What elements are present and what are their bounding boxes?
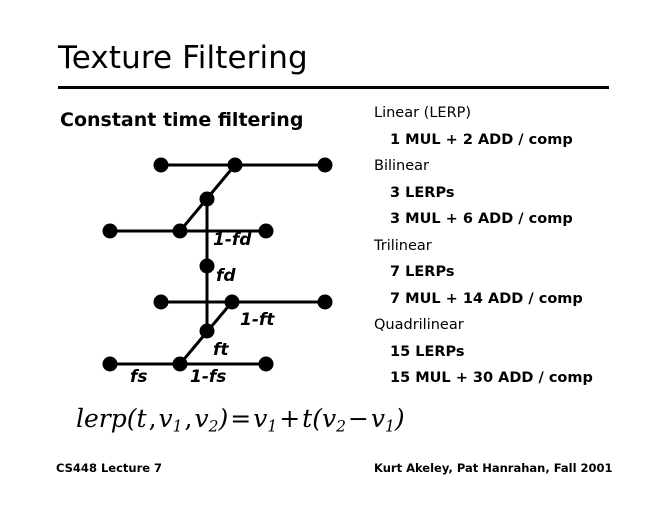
diagram-weight-label-fd: fd (216, 266, 236, 286)
formula-open-paren: ( (127, 404, 137, 433)
formula-close-paren-2: ) (395, 404, 405, 433)
diagram-weight-label-ft: ft (213, 340, 229, 360)
section-heading: Constant time filtering (60, 109, 303, 131)
filter-cost-label: 3 MUL + 6 ADD / comp (390, 212, 644, 227)
diagram-diagonal-line-0 (180, 165, 235, 231)
slide-canvas: Texture Filtering Constant time filterin… (0, 0, 660, 510)
filter-method-label: Trilinear (374, 239, 644, 254)
diagram-node-vertical-1 (200, 259, 215, 274)
filter-method-label: Bilinear (374, 159, 644, 174)
diagram-weight-label-fs: fs (130, 367, 148, 387)
diagram-node-row1-1 (173, 224, 188, 239)
diagram-weight-label-1fs: 1-fs (190, 367, 226, 387)
filter-cost-label: 1 MUL + 2 ADD / comp (390, 133, 644, 148)
filter-method-label: Linear (LERP) (374, 106, 644, 121)
formula-plus: + (277, 404, 302, 433)
diagram-node-row3-1 (173, 357, 188, 372)
diagram-node-row3-2 (259, 357, 274, 372)
formula-function-name: lerp (76, 404, 127, 433)
diagram-node-vertical-2 (200, 324, 215, 339)
diagram-weight-label-1ft: 1-ft (240, 310, 274, 330)
footer-course-label: CS448 Lecture 7 (56, 461, 162, 475)
diagram-node-row0-2 (318, 158, 333, 173)
page-title: Texture Filtering (58, 40, 308, 76)
formula-arg-t: t (137, 404, 147, 433)
diagram-node-row1-0 (103, 224, 118, 239)
diagram-node-row2-1 (225, 295, 240, 310)
diagram-node-row1-2 (259, 224, 274, 239)
filter-cost-label: 7 LERPs (390, 265, 644, 280)
formula-arg-v2: v2 (194, 404, 218, 433)
filter-cost-label: 15 LERPs (390, 345, 644, 360)
formula-equals: = (228, 404, 253, 433)
filter-cost-label: 3 LERPs (390, 186, 644, 201)
filtering-cost-list: Linear (LERP)1 MUL + 2 ADD / compBilinea… (374, 106, 644, 398)
title-divider (58, 86, 609, 89)
diagram-node-row3-0 (103, 357, 118, 372)
formula-arg-v1: v1 (159, 404, 183, 433)
footer-authors-label: Kurt Akeley, Pat Hanrahan, Fall 2001 (374, 461, 613, 475)
filter-cost-label: 15 MUL + 30 ADD / comp (390, 371, 644, 386)
diagram-node-row2-2 (318, 295, 333, 310)
formula-close-paren: ) (218, 404, 228, 433)
lerp-formula: lerp(t,v1,v2)=v1+t(v2−v1) (76, 404, 405, 435)
filter-method-label: Quadrilinear (374, 318, 644, 333)
filter-cost-label: 7 MUL + 14 ADD / comp (390, 292, 644, 307)
diagram-node-row2-0 (154, 295, 169, 310)
diagram-node-row0-1 (228, 158, 243, 173)
formula-open-paren-2: ( (312, 404, 322, 433)
formula-term-v2: v2 (322, 404, 346, 433)
diagram-node-vertical-0 (200, 192, 215, 207)
formula-term-v1: v1 (371, 404, 395, 433)
formula-comma-1: , (147, 404, 159, 433)
diagram-weight-label-1fd: 1-fd (213, 230, 251, 250)
formula-result-v1: v1 (253, 404, 277, 433)
formula-factor-t: t (302, 404, 312, 433)
formula-comma-2: , (183, 404, 195, 433)
formula-minus: − (346, 404, 371, 433)
diagram-node-row0-0 (154, 158, 169, 173)
